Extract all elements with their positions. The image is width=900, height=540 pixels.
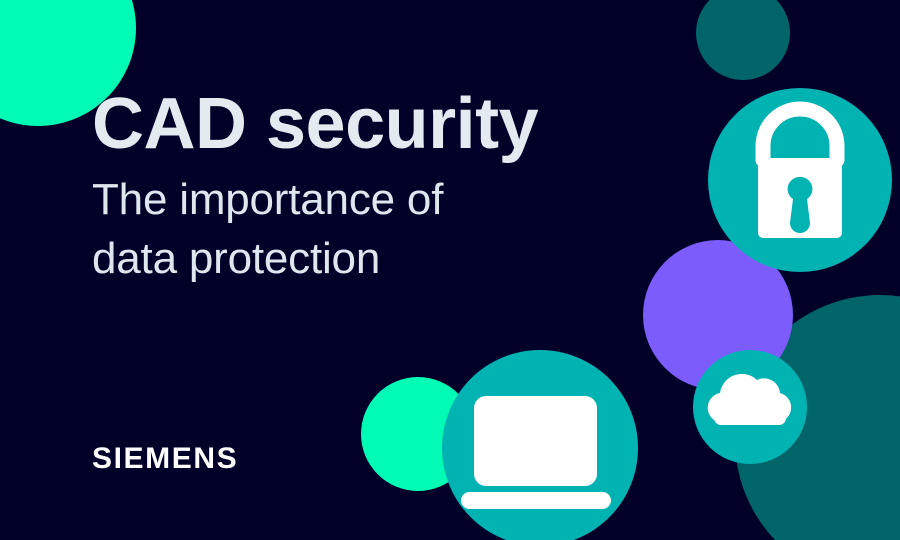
siemens-logo: SIEMENS xyxy=(92,444,238,474)
banner-canvas: CAD security The importance of data prot… xyxy=(0,0,900,540)
subtitle-line-1: The importance of xyxy=(92,170,652,229)
page-subtitle: The importance of data protection xyxy=(92,170,652,289)
page-title: CAD security xyxy=(92,88,652,160)
teal-circle-cloud xyxy=(693,350,807,464)
teal-circle-lock xyxy=(708,88,892,272)
teal-circle-laptop xyxy=(442,350,638,540)
headline-block: CAD security The importance of data prot… xyxy=(92,88,652,289)
subtitle-line-2: data protection xyxy=(92,229,652,288)
